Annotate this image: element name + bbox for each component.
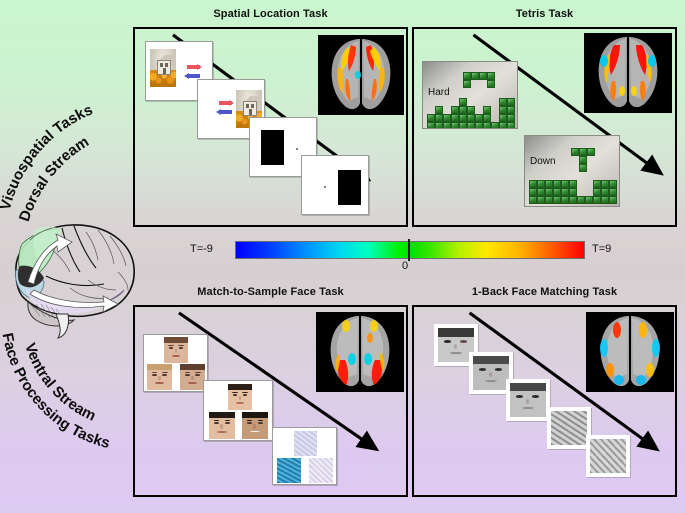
eye bbox=[258, 422, 263, 424]
tetris-block bbox=[499, 106, 507, 114]
tetris-block bbox=[467, 122, 475, 129]
tetris-block bbox=[435, 106, 443, 114]
tetris-block bbox=[463, 72, 471, 80]
tetris-block bbox=[579, 164, 587, 172]
tetris-block bbox=[507, 98, 515, 106]
tetris-screen-hard: Hard bbox=[422, 61, 518, 129]
eyebrow bbox=[195, 372, 201, 373]
tetris-block bbox=[593, 188, 601, 196]
mouth bbox=[522, 407, 535, 409]
stimulus-card-scrambled-4 bbox=[547, 407, 591, 449]
house-door bbox=[163, 68, 166, 74]
house-image bbox=[150, 49, 176, 87]
sample-face bbox=[164, 337, 188, 363]
hair bbox=[242, 412, 268, 418]
tetris-block bbox=[601, 188, 609, 196]
eyebrow bbox=[242, 392, 247, 393]
panel-title-tetris: Tetris Task bbox=[412, 8, 677, 20]
eye bbox=[179, 347, 184, 349]
panel-title-match-to-sample: Match-to-Sample Face Task bbox=[133, 286, 408, 298]
mouth bbox=[450, 352, 463, 354]
eyebrow bbox=[162, 372, 168, 373]
tetris-block bbox=[483, 106, 491, 114]
tetris-block bbox=[427, 114, 435, 122]
tetris-block bbox=[609, 180, 617, 188]
tetris-block bbox=[545, 180, 553, 188]
house-window bbox=[160, 63, 163, 67]
tetris-block bbox=[561, 188, 569, 196]
eye bbox=[479, 368, 486, 370]
tetris-block bbox=[579, 156, 587, 164]
tetris-block bbox=[487, 80, 495, 88]
tetris-block bbox=[561, 196, 569, 204]
nose bbox=[175, 349, 177, 353]
tetris-block bbox=[545, 196, 553, 204]
nose bbox=[526, 399, 530, 404]
eyebrow bbox=[185, 372, 191, 373]
dorsal-stream-label-line1: Visuospatial Tasks bbox=[0, 101, 95, 212]
eye bbox=[532, 395, 539, 397]
stimulus-card-scrambled-5 bbox=[586, 435, 630, 477]
tetris-block bbox=[487, 72, 495, 80]
tetris-block bbox=[451, 122, 459, 129]
house-window bbox=[251, 104, 254, 108]
hair bbox=[510, 383, 546, 391]
fixation-dot bbox=[296, 148, 298, 150]
eye bbox=[444, 340, 451, 342]
tetris-block bbox=[553, 188, 561, 196]
t-statistic-colorbar: T=-9 0 T=9 bbox=[190, 240, 630, 276]
choice-face-left bbox=[147, 364, 172, 390]
hair bbox=[209, 412, 235, 418]
tetris-block bbox=[577, 196, 585, 204]
panel-tetris-task: Hard bbox=[412, 27, 677, 227]
tetris-block bbox=[609, 188, 617, 196]
tetris-block bbox=[507, 114, 515, 122]
eye bbox=[516, 395, 523, 397]
tetris-block bbox=[569, 188, 577, 196]
eyebrow bbox=[225, 420, 231, 421]
tetris-block bbox=[427, 122, 435, 129]
activation-map-match-to-sample bbox=[316, 312, 404, 392]
eye bbox=[243, 394, 248, 396]
eyebrow bbox=[214, 420, 220, 421]
hair bbox=[147, 364, 172, 370]
tetris-block bbox=[553, 196, 561, 204]
tetris-block bbox=[471, 72, 479, 80]
tetris-block bbox=[435, 114, 443, 122]
activation-map-one-back bbox=[586, 312, 674, 392]
tetris-block bbox=[443, 114, 451, 122]
eye bbox=[495, 368, 502, 370]
eyebrow bbox=[168, 345, 173, 346]
colorbar-gradient bbox=[235, 241, 585, 259]
house-window bbox=[246, 104, 249, 108]
panel-title-one-back: 1-Back Face Matching Task bbox=[412, 286, 677, 298]
eye bbox=[195, 374, 200, 376]
tetris-block bbox=[601, 196, 609, 204]
eye bbox=[225, 422, 230, 424]
house-window bbox=[165, 63, 168, 67]
tetris-block bbox=[537, 180, 545, 188]
eye bbox=[169, 347, 174, 349]
nose bbox=[158, 376, 161, 380]
mouth bbox=[172, 355, 181, 357]
tetris-block bbox=[467, 114, 475, 122]
tetris-block bbox=[571, 148, 579, 156]
tetris-block bbox=[451, 114, 459, 122]
tetris-block bbox=[459, 98, 467, 106]
tetris-block bbox=[545, 188, 553, 196]
tetris-block bbox=[463, 80, 471, 88]
colorbar-right-label: T=9 bbox=[592, 243, 611, 255]
house-door bbox=[249, 109, 252, 115]
tetris-block bbox=[443, 122, 451, 129]
eyebrow bbox=[152, 372, 158, 373]
panel-one-back-face-matching-task bbox=[412, 305, 677, 497]
mouth bbox=[188, 382, 197, 384]
tetris-block bbox=[537, 188, 545, 196]
tetris-block bbox=[491, 122, 499, 129]
eye bbox=[162, 374, 167, 376]
tetris-block bbox=[601, 180, 609, 188]
colorbar-left-label: T=-9 bbox=[190, 243, 213, 255]
tetris-block bbox=[499, 98, 507, 106]
eye bbox=[185, 374, 190, 376]
nose bbox=[220, 424, 223, 428]
choice-face-right bbox=[242, 412, 268, 439]
scrambled-choice-right bbox=[309, 458, 333, 483]
nose bbox=[489, 372, 493, 377]
mouth bbox=[485, 380, 498, 382]
black-rectangle bbox=[338, 170, 361, 205]
tetris-block bbox=[499, 114, 507, 122]
tetris-block bbox=[529, 196, 537, 204]
tetris-block bbox=[479, 72, 487, 80]
hair bbox=[438, 328, 474, 337]
stimulus-card-face-triad-2 bbox=[203, 380, 273, 441]
activation-map-tetris bbox=[584, 33, 672, 113]
mouth bbox=[217, 431, 226, 433]
hair bbox=[164, 337, 188, 343]
tetris-screen-down: Down bbox=[524, 135, 620, 207]
mouth bbox=[250, 431, 259, 432]
panel-title-spatial-location: Spatial Location Task bbox=[133, 8, 408, 20]
house-body bbox=[157, 60, 171, 75]
tetris-block bbox=[529, 188, 537, 196]
eye bbox=[460, 340, 467, 342]
tetris-block bbox=[435, 122, 443, 129]
tetris-block bbox=[587, 148, 595, 156]
eye bbox=[152, 374, 157, 376]
eyebrow bbox=[247, 420, 253, 421]
sample-face bbox=[228, 384, 252, 410]
tetris-block bbox=[569, 196, 577, 204]
gray-face bbox=[473, 356, 509, 390]
eye bbox=[214, 422, 219, 424]
activation-map-spatial-location bbox=[318, 35, 404, 115]
scrambled-face bbox=[551, 411, 587, 445]
lateral-brain-diagram bbox=[0, 210, 140, 345]
stimulus-card-blackrect-right bbox=[301, 155, 369, 215]
black-rectangle bbox=[261, 130, 284, 165]
gray-face bbox=[510, 383, 546, 417]
tetris-block bbox=[475, 114, 483, 122]
hair bbox=[180, 364, 205, 370]
tetris-label-down: Down bbox=[530, 156, 556, 167]
eyebrow bbox=[178, 345, 183, 346]
tetris-block bbox=[609, 196, 617, 204]
tetris-block bbox=[579, 148, 587, 156]
tetris-block bbox=[507, 122, 515, 129]
tetris-block bbox=[561, 180, 569, 188]
tetris-block bbox=[537, 196, 545, 204]
choice-face-left bbox=[209, 412, 235, 439]
tetris-block bbox=[483, 122, 491, 129]
nose bbox=[239, 396, 241, 400]
tetris-block bbox=[499, 122, 507, 129]
tetris-block bbox=[483, 114, 491, 122]
tetris-block bbox=[451, 106, 459, 114]
tetris-block bbox=[553, 180, 561, 188]
hair bbox=[228, 384, 252, 390]
panel-match-to-sample-face-task bbox=[133, 305, 408, 497]
tetris-block bbox=[475, 122, 483, 129]
eye bbox=[233, 394, 238, 396]
scrambled-face bbox=[590, 439, 626, 473]
nose bbox=[454, 344, 458, 349]
tetris-block bbox=[467, 106, 475, 114]
stimulus-card-scrambled-triad bbox=[272, 427, 337, 485]
tetris-block bbox=[585, 196, 593, 204]
choice-face-right bbox=[180, 364, 205, 390]
stimulus-card-face-triad-1 bbox=[143, 334, 208, 392]
nose bbox=[191, 376, 194, 380]
tetris-block bbox=[593, 196, 601, 204]
scrambled-sample bbox=[294, 431, 317, 456]
panel-spatial-location-task bbox=[133, 27, 408, 227]
nose bbox=[253, 424, 256, 428]
tetris-block bbox=[507, 106, 515, 114]
tetris-block bbox=[593, 180, 601, 188]
tetris-block bbox=[459, 114, 467, 122]
tetris-label-hard: Hard bbox=[428, 87, 450, 98]
fixation-dot bbox=[324, 186, 326, 188]
colorbar-zero-tick bbox=[408, 239, 410, 261]
tetris-block bbox=[459, 122, 467, 129]
tetris-block bbox=[529, 180, 537, 188]
house-body bbox=[243, 101, 257, 116]
scrambled-choice-left bbox=[277, 458, 301, 483]
tetris-block bbox=[569, 180, 577, 188]
eye bbox=[247, 422, 252, 424]
mouth bbox=[236, 402, 245, 404]
mouth bbox=[155, 382, 164, 384]
eyebrow bbox=[258, 420, 264, 421]
stimulus-card-gray-face-3 bbox=[506, 379, 550, 421]
tetris-block bbox=[459, 106, 467, 114]
eyebrow bbox=[232, 392, 237, 393]
hair bbox=[473, 356, 509, 364]
colorbar-center-label: 0 bbox=[402, 260, 408, 272]
